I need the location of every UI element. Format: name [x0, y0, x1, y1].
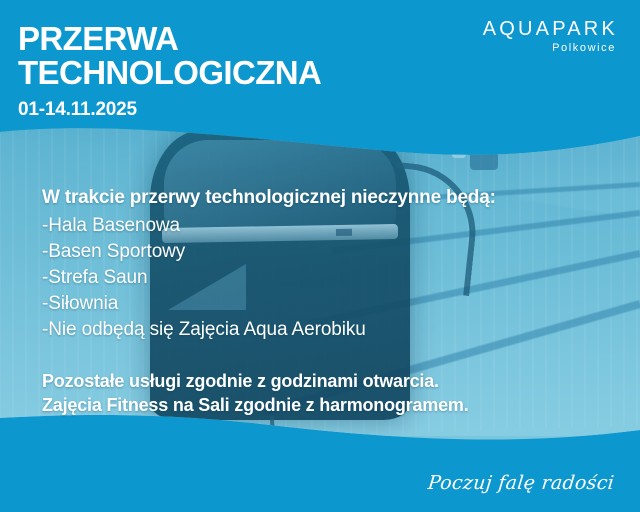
- logo-location: Polkowice: [483, 41, 616, 56]
- note-line-2: Zajęcia Fitness na Sali zgodnie z harmon…: [42, 393, 622, 417]
- aquapark-notice-poster: PRZERWA TECHNOLOGICZNA 01-14.11.2025 AQU…: [0, 0, 640, 512]
- list-item: -Hala Basenowa: [42, 213, 622, 239]
- brand-tagline: Poczuj falę radości: [427, 472, 615, 494]
- list-item: -Nie odbędą się Zajęcia Aqua Aerobiku: [42, 317, 622, 343]
- closed-facilities-list: -Hala Basenowa -Basen Sportowy -Strefa S…: [42, 213, 622, 343]
- list-item: -Strefa Saun: [42, 265, 622, 291]
- logo-name: AQUAPARK: [483, 18, 618, 40]
- poolside-post: [497, 64, 504, 94]
- note-line-1: Pozostałe usługi zgodnie z godzinami otw…: [42, 369, 622, 393]
- poolside-post: [440, 61, 447, 91]
- poster-header: PRZERWA TECHNOLOGICZNA 01-14.11.2025: [18, 22, 321, 121]
- list-item: -Basen Sportowy: [42, 239, 622, 265]
- poster-body: W trakcie przerwy technologicznej nieczy…: [42, 186, 622, 417]
- page-title-line-1: PRZERWA: [18, 22, 321, 56]
- aquapark-logo: AQUAPARK Polkowice: [483, 18, 618, 56]
- closure-lead-text: W trakcie przerwy technologicznej nieczy…: [42, 186, 622, 210]
- poolside-post: [612, 68, 619, 98]
- poolside-post: [385, 58, 392, 88]
- poolside-post: [330, 56, 337, 86]
- page-title-line-2: TECHNOLOGICZNA: [18, 56, 321, 90]
- list-item: -Siłownia: [42, 291, 622, 317]
- poolside-post: [556, 66, 563, 96]
- additional-notes: Pozostałe usługi zgodnie z godzinami otw…: [42, 369, 622, 417]
- date-range: 01-14.11.2025: [18, 99, 321, 121]
